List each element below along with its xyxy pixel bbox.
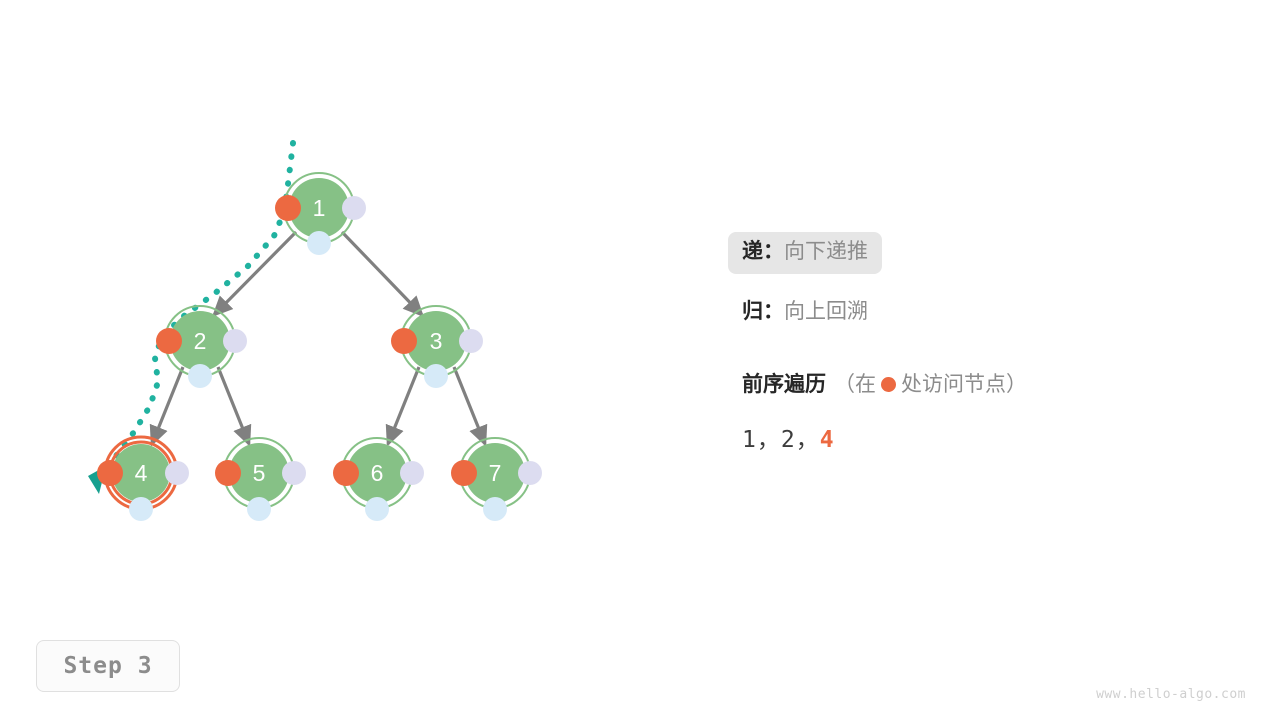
node-3-left-dot	[391, 328, 417, 354]
node-1-label: 1	[313, 195, 326, 221]
watermark: www.hello-algo.com	[1096, 687, 1246, 702]
legend-recurse-keyword: 递：	[742, 240, 784, 263]
sequence-current: 4	[820, 427, 835, 453]
node-7-label: 7	[489, 460, 502, 486]
node-3-bottom-dot	[424, 364, 448, 388]
legend-return-keyword: 归：	[742, 300, 784, 323]
node-1-right-dot	[342, 196, 366, 220]
sequence-visited: 1，2，	[742, 427, 820, 453]
tree-node-6[interactable]: 6	[333, 438, 424, 521]
node-1-bottom-dot	[307, 231, 331, 255]
node-4-right-dot	[165, 461, 189, 485]
edge-2-5	[218, 367, 249, 444]
node-2-left-dot	[156, 328, 182, 354]
node-5-right-dot	[282, 461, 306, 485]
node-6-label: 6	[371, 460, 384, 486]
tree-node-3[interactable]: 3	[391, 306, 483, 388]
edge-2-4	[152, 367, 183, 444]
legend-recurse-text: 向下递推	[784, 240, 868, 263]
edge-1-2	[214, 232, 296, 315]
explanation-panel: 递：向下递推 归：向上回溯 前序遍历（在处访问节点） 1，2，4	[728, 232, 1248, 454]
tree-node-7[interactable]: 7	[451, 438, 542, 521]
traversal-note-pre: （在	[834, 373, 876, 396]
legend-line-recurse: 递：向下递推	[728, 232, 1248, 274]
node-4-bottom-dot	[129, 497, 153, 521]
node-4-label: 4	[135, 460, 148, 486]
node-7-left-dot	[451, 460, 477, 486]
node-4-left-dot	[97, 460, 123, 486]
node-5-label: 5	[253, 460, 266, 486]
tree-node-2[interactable]: 2	[156, 306, 247, 388]
node-5-bottom-dot	[247, 497, 271, 521]
legend-spacer	[728, 274, 1248, 292]
traversal-name: 前序遍历	[742, 373, 826, 396]
legend-return-text: 向上回溯	[784, 300, 868, 323]
legend-return-wrap: 归：向上回溯	[728, 292, 882, 334]
edge-3-6	[388, 367, 419, 444]
node-6-left-dot	[333, 460, 359, 486]
node-6-bottom-dot	[365, 497, 389, 521]
node-5-left-dot	[215, 460, 241, 486]
legend-recurse-highlight: 递：向下递推	[728, 232, 882, 274]
edge-3-7	[454, 367, 485, 444]
node-7-right-dot	[518, 461, 542, 485]
node-2-right-dot	[223, 329, 247, 353]
step-badge: Step 3	[36, 640, 180, 692]
node-3-right-dot	[459, 329, 483, 353]
node-2-bottom-dot	[188, 364, 212, 388]
tree-nodes: 1 2 3	[97, 173, 542, 521]
slide-canvas: 1 2 3	[0, 0, 1280, 720]
legend-line-return: 归：向上回溯	[728, 292, 1248, 334]
tree-node-5[interactable]: 5	[215, 438, 306, 521]
binary-tree-diagram: 1 2 3	[0, 0, 700, 600]
node-3-label: 3	[430, 328, 443, 354]
node-6-right-dot	[400, 461, 424, 485]
node-2-label: 2	[194, 328, 207, 354]
tree-node-4[interactable]: 4	[97, 437, 189, 521]
traversal-note-post: 处访问节点）	[901, 373, 1027, 396]
node-1-left-dot	[275, 195, 301, 221]
node-7-bottom-dot	[483, 497, 507, 521]
traversal-sequence: 1，2，4	[728, 420, 1248, 454]
visit-marker-icon	[881, 377, 896, 392]
traversal-title: 前序遍历（在处访问节点）	[728, 370, 1248, 400]
edge-1-3	[342, 232, 422, 315]
